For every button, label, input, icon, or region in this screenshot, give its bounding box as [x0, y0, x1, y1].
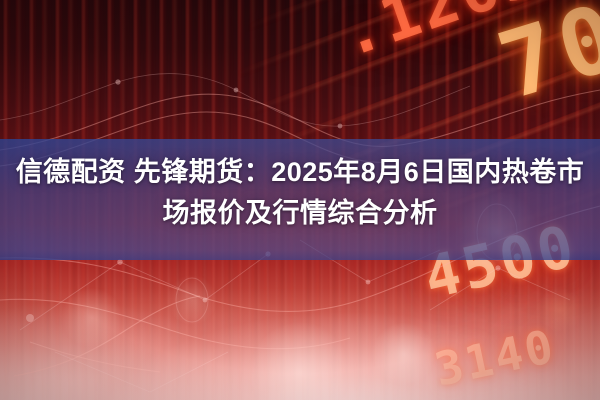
news-banner: .1265 70 4500 3140 [0, 0, 600, 400]
page-title-line-1: 信德配资 先锋期货：2025年8月6日国内热卷市 [0, 152, 600, 193]
page-title: 信德配资 先锋期货：2025年8月6日国内热卷市 场报价及行情综合分析 [0, 152, 600, 234]
page-title-line-2: 场报价及行情综合分析 [0, 193, 600, 234]
